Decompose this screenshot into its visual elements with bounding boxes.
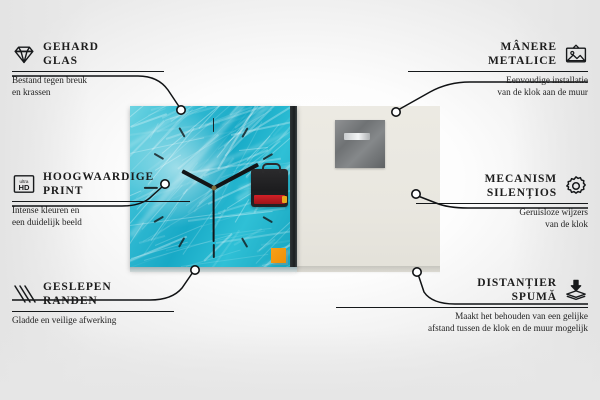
feature-subtitle: Maakt het behouden van een gelijkeafstan… xyxy=(336,311,588,334)
background-vignette-bottom xyxy=(0,330,600,400)
feature-title: HOOGWAARDIGEPRINT xyxy=(43,170,154,198)
feature-subtitle: Bestand tegen breuken krassen xyxy=(12,75,172,98)
feature-header: GESLEPENRANDEN xyxy=(12,280,182,308)
feature-rule xyxy=(12,311,174,312)
picture-frame-icon xyxy=(564,42,588,66)
feature-header: ultra HD HOOGWAARDIGEPRINT xyxy=(12,170,198,198)
infographic-canvas: GEHARDGLAS Bestand tegen breuken krassen… xyxy=(0,0,600,400)
feature-geslepen-randen[interactable]: GESLEPENRANDEN Gladde en veilige afwerki… xyxy=(12,280,182,327)
metal-hanger-plate xyxy=(335,120,385,168)
arrow-onto-stack-icon xyxy=(564,278,588,302)
clock-tick xyxy=(213,244,215,258)
panel-shadow xyxy=(295,266,440,274)
feature-title: MÂNEREMETALICE xyxy=(488,40,557,68)
feature-header: MECANISMSILENȚIOS xyxy=(416,172,588,200)
feature-title: MECANISMSILENȚIOS xyxy=(485,172,557,200)
feature-header: GEHARDGLAS xyxy=(12,40,172,68)
clock-mechanism xyxy=(251,169,288,207)
feature-manere-metalice[interactable]: MÂNEREMETALICE Eenvoudige installatievan… xyxy=(408,40,588,98)
feature-header: MÂNEREMETALICE xyxy=(408,40,588,68)
second-hand xyxy=(213,188,215,242)
svg-text:HD: HD xyxy=(19,183,30,192)
feature-mecanism-silentios[interactable]: MECANISMSILENȚIOS Geruisloze wijzersvan … xyxy=(416,172,588,230)
diagonal-lines-icon xyxy=(12,282,36,306)
battery xyxy=(254,195,285,204)
feature-title: GEHARDGLAS xyxy=(43,40,99,68)
clock-bottom-edge xyxy=(130,267,297,272)
clock-center-pin xyxy=(211,185,216,190)
feature-subtitle: Gladde en veilige afwerking xyxy=(12,315,182,327)
gear-icon xyxy=(564,174,588,198)
feature-rule xyxy=(336,307,588,308)
feature-distantier-spuma[interactable]: DISTANȚIERSPUMĂ Maakt het behouden van e… xyxy=(336,276,588,334)
feature-rule xyxy=(12,201,190,202)
feature-gehard-glas[interactable]: GEHARDGLAS Bestand tegen breuken krassen xyxy=(12,40,172,98)
feature-subtitle: Eenvoudige installatievan de klok aan de… xyxy=(408,75,588,98)
feature-rule xyxy=(408,71,588,72)
mechanism-hook xyxy=(262,163,281,173)
feature-title: DISTANȚIERSPUMĂ xyxy=(477,276,557,304)
foam-spacer xyxy=(271,248,286,263)
feature-header: DISTANȚIERSPUMĂ xyxy=(336,276,588,304)
ultra-hd-icon: ultra HD xyxy=(12,172,36,196)
feature-rule xyxy=(12,71,164,72)
feature-rule xyxy=(416,203,588,204)
clock-side-edge xyxy=(290,106,297,272)
feature-subtitle: Intense kleuren eneen duidelijk beeld xyxy=(12,205,198,228)
feature-title: GESLEPENRANDEN xyxy=(43,280,112,308)
clock-tick xyxy=(213,118,215,132)
feature-hoogwaardige-print[interactable]: ultra HD HOOGWAARDIGEPRINT Intense kleur… xyxy=(12,170,198,228)
diamond-icon xyxy=(12,42,36,66)
feature-subtitle: Geruisloze wijzersvan de klok xyxy=(416,207,588,230)
